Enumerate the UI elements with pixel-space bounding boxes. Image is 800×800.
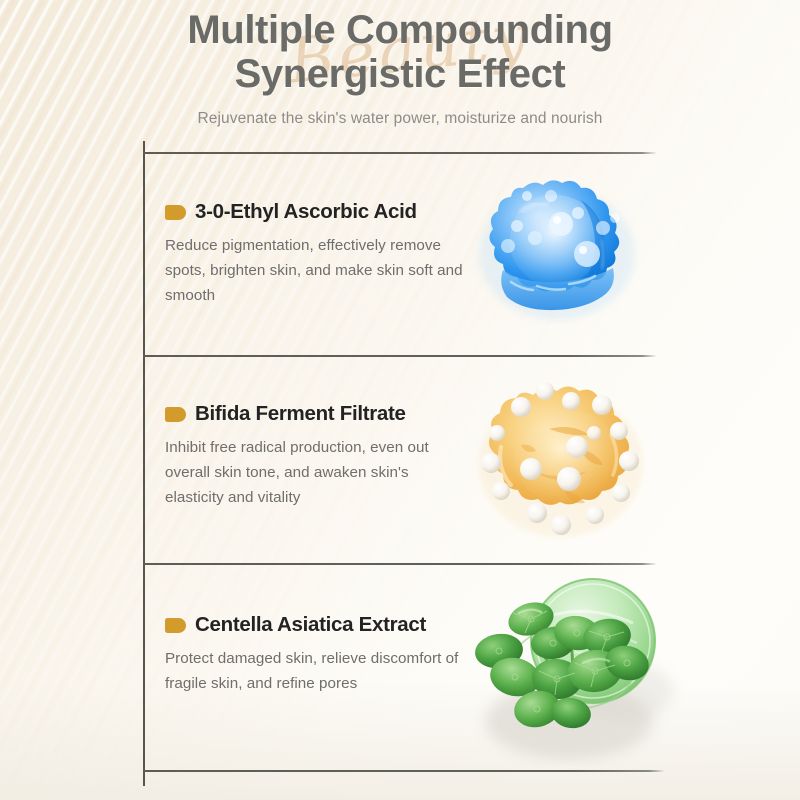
ingredient-row: Bifida Ferment Filtrate Inhibit free rad…	[143, 355, 673, 563]
flag-bullet-icon	[165, 205, 186, 220]
amber-ferment-blob-image	[461, 373, 661, 543]
ingredient-name: Bifida Ferment Filtrate	[195, 402, 406, 426]
page-title-line2: Synergistic Effect	[0, 52, 800, 96]
ingredient-heading: 3-0-Ethyl Ascorbic Acid	[165, 200, 465, 224]
divider-bottom	[143, 770, 665, 772]
ingredient-row: 3-0-Ethyl Ascorbic Acid Reduce pigmentat…	[143, 152, 673, 355]
ingredient-heading: Centella Asiatica Extract	[165, 613, 465, 637]
ingredient-row: Centella Asiatica Extract Protect damage…	[143, 563, 673, 770]
centella-leaves-bowl-image	[473, 571, 688, 766]
ingredient-heading: Bifida Ferment Filtrate	[165, 402, 465, 426]
flag-bullet-icon	[165, 618, 186, 633]
ingredient-text-block: 3-0-Ethyl Ascorbic Acid Reduce pigmentat…	[165, 200, 465, 308]
page-title-line1: Multiple Compounding	[187, 8, 612, 52]
header: Beauty Multiple Compounding Synergistic …	[0, 8, 800, 128]
ingredient-description: Inhibit free radical production, even ou…	[165, 435, 465, 510]
ingredient-text-block: Bifida Ferment Filtrate Inhibit free rad…	[165, 402, 465, 510]
infographic-page: Beauty Multiple Compounding Synergistic …	[0, 0, 800, 800]
page-title: Multiple Compounding Synergistic Effect	[0, 8, 800, 96]
flag-bullet-icon	[165, 407, 186, 422]
ingredient-description: Protect damaged skin, relieve discomfort…	[165, 646, 465, 696]
ingredient-description: Reduce pigmentation, effectively remove …	[165, 233, 465, 308]
ingredient-text-block: Centella Asiatica Extract Protect damage…	[165, 613, 465, 696]
ingredient-name: 3-0-Ethyl Ascorbic Acid	[195, 200, 417, 224]
blue-gel-cube-image	[465, 166, 655, 326]
ingredient-name: Centella Asiatica Extract	[195, 613, 426, 637]
script-watermark: Beauty	[285, 0, 534, 98]
page-subtitle: Rejuvenate the skin's water power, moist…	[0, 110, 800, 128]
